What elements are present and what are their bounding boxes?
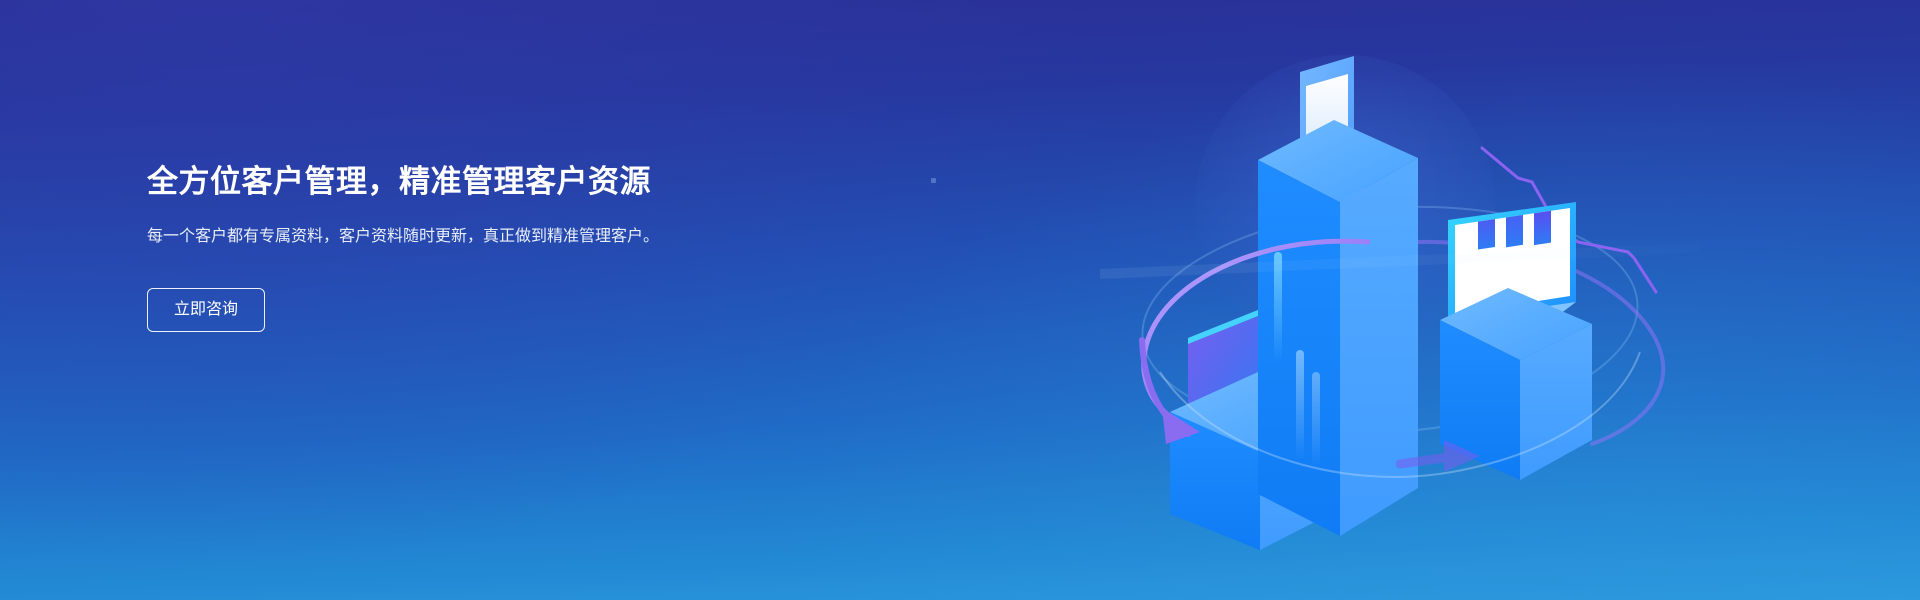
center-pillar-with-tablet: [1258, 56, 1418, 536]
chart-bar-3: [1534, 197, 1551, 246]
chart-bar-2: [1506, 169, 1523, 248]
hero-subtitle: 每一个客户都有专属资料，客户资料随时更新，真正做到精准管理客户。: [147, 224, 737, 250]
hero-copy: 全方位客户管理，精准管理客户资源 每一个客户都有专属资料，客户资料随时更新，真正…: [147, 163, 787, 332]
background-speck: [931, 178, 936, 183]
consult-now-button[interactable]: 立即咨询: [147, 288, 265, 332]
center-pillar-front: [1258, 160, 1340, 536]
page-title: 全方位客户管理，精准管理客户资源: [147, 163, 787, 202]
hero-illustration: [1100, 20, 1700, 580]
hero-banner: 全方位客户管理，精准管理客户资源 每一个客户都有专属资料，客户资料随时更新，真正…: [0, 0, 1920, 600]
center-pillar-side: [1340, 158, 1418, 536]
right-pillar-with-monitor: [1440, 169, 1592, 480]
